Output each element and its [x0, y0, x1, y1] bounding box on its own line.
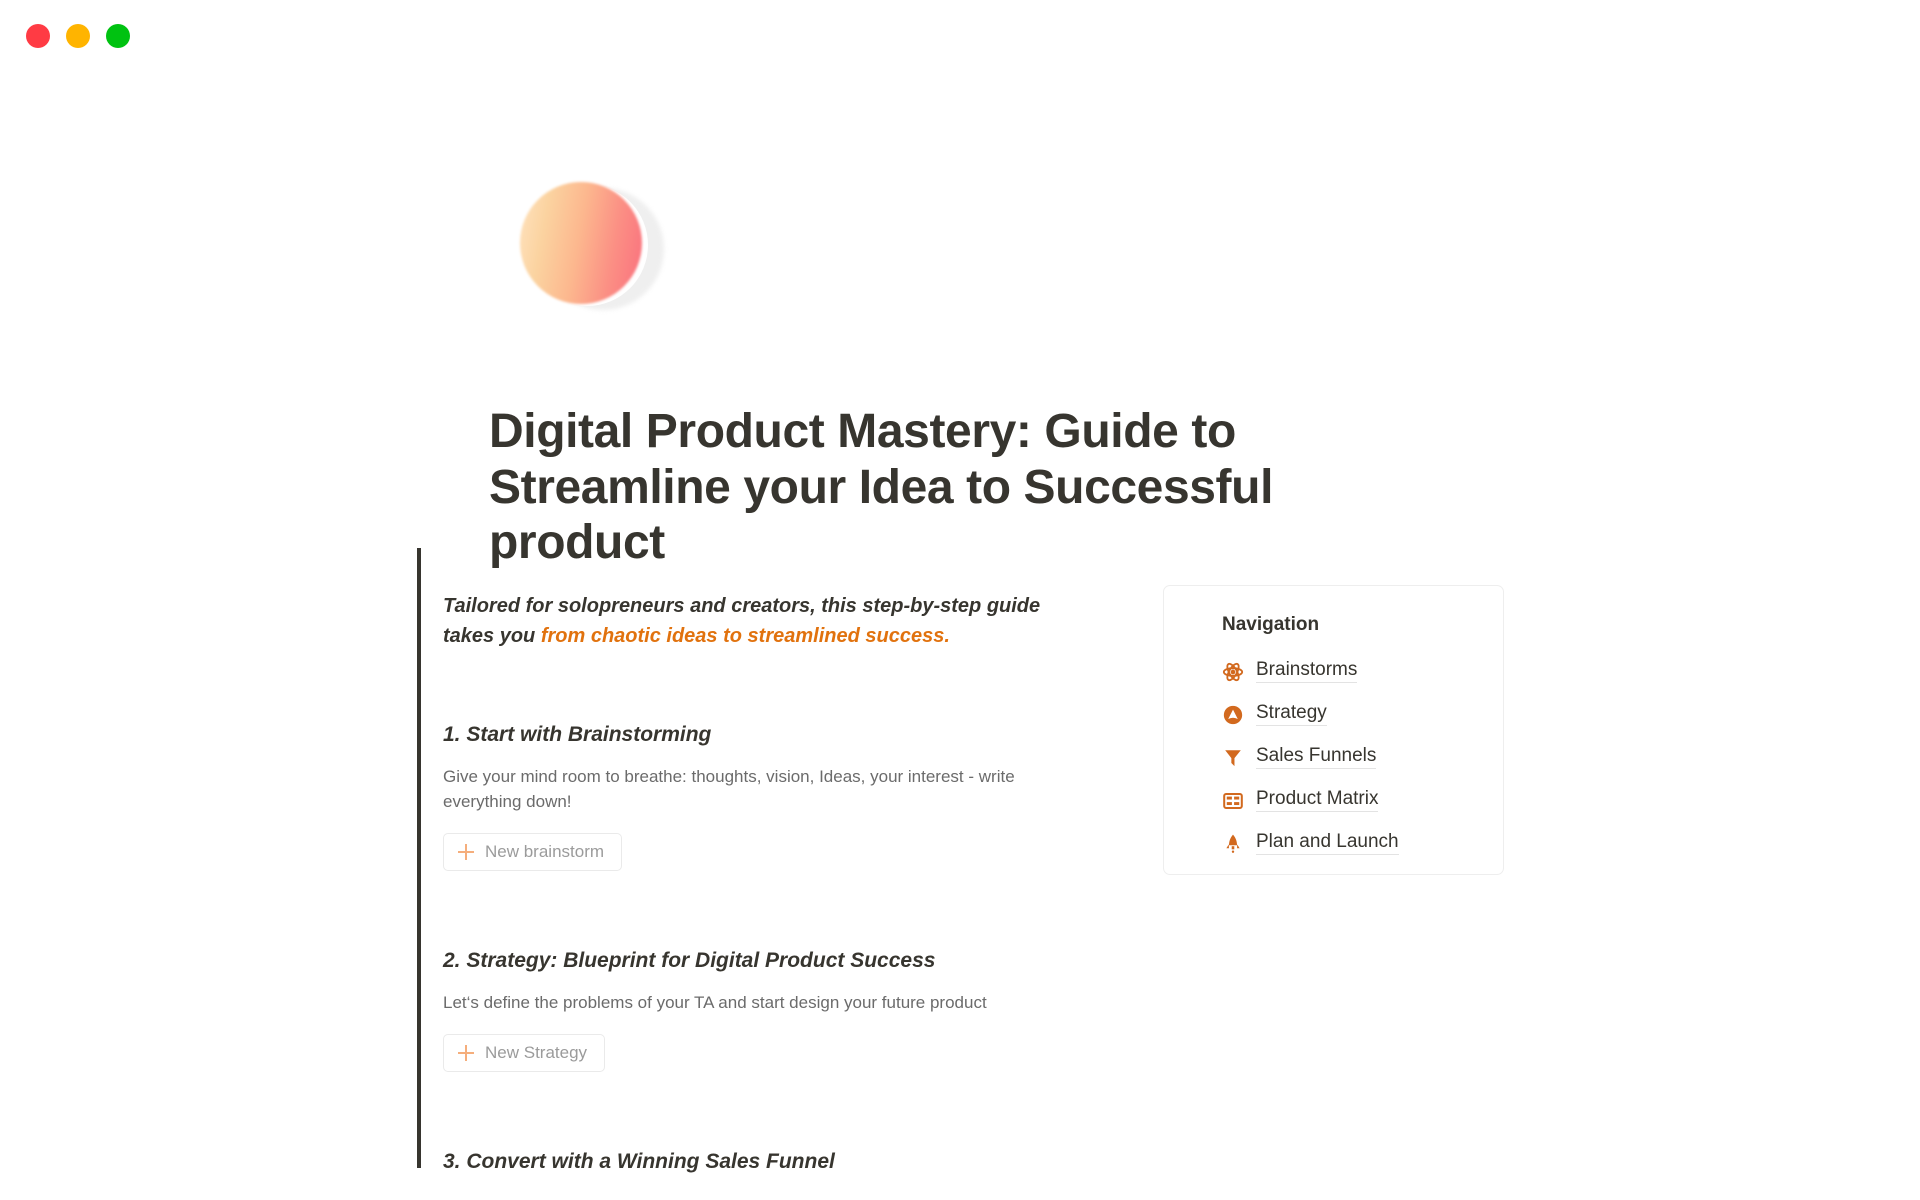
- nav-item-plan-and-launch[interactable]: Plan and Launch: [1222, 822, 1503, 865]
- intro-accent-text: from chaotic ideas to streamlined succes…: [541, 625, 950, 647]
- nav-label: Brainstorms: [1256, 660, 1357, 683]
- page-title: Digital Product Mastery: Guide to Stream…: [489, 404, 1419, 571]
- section-description: Let‘s define the problems of your TA and…: [443, 991, 1068, 1016]
- gradient-orb-icon: [520, 182, 652, 314]
- new-strategy-button[interactable]: New Strategy: [443, 1034, 605, 1072]
- new-strategy-label: New Strategy: [485, 1043, 587, 1063]
- app-page: Digital Product Mastery: Guide to Stream…: [0, 0, 1920, 1200]
- nav-item-product-matrix[interactable]: Product Matrix: [1222, 779, 1503, 822]
- callout-vertical-rule: [417, 548, 421, 1168]
- section-title: 1. Start with Brainstorming: [443, 721, 1123, 748]
- section-title: 3. Convert with a Winning Sales Funnel: [443, 1148, 1123, 1175]
- close-window-button[interactable]: [26, 24, 50, 48]
- navigation-panel: Navigation Brainstorms Strategy: [1163, 585, 1504, 875]
- nav-item-brainstorms[interactable]: Brainstorms: [1222, 650, 1503, 693]
- triangle-circle-icon: [1222, 704, 1244, 726]
- section-sales-funnel: 3. Convert with a Winning Sales Funnel: [443, 1148, 1123, 1175]
- rocket-icon: [1222, 833, 1244, 855]
- minimize-window-button[interactable]: [66, 24, 90, 48]
- nav-item-strategy[interactable]: Strategy: [1222, 693, 1503, 736]
- intro-paragraph: Tailored for solopreneurs and creators, …: [443, 592, 1083, 651]
- window-titlebar: [0, 0, 1920, 72]
- nav-label: Product Matrix: [1256, 789, 1378, 812]
- plus-icon: [458, 1045, 474, 1061]
- nav-label: Sales Funnels: [1256, 746, 1376, 769]
- section-brainstorming: 1. Start with Brainstorming Give your mi…: [443, 721, 1123, 871]
- orb-gradient: [520, 182, 642, 304]
- section-description: Give your mind room to breathe: thoughts…: [443, 765, 1068, 815]
- nav-label: Plan and Launch: [1256, 832, 1399, 855]
- maximize-window-button[interactable]: [106, 24, 130, 48]
- section-title: 2. Strategy: Blueprint for Digital Produ…: [443, 947, 1123, 974]
- table-grid-icon: [1222, 790, 1244, 812]
- content-column: Tailored for solopreneurs and creators, …: [443, 548, 1123, 1176]
- navigation-title: Navigation: [1222, 614, 1503, 636]
- new-brainstorm-label: New brainstorm: [485, 842, 604, 862]
- atom-icon: [1222, 661, 1244, 683]
- new-brainstorm-button[interactable]: New brainstorm: [443, 833, 622, 871]
- nav-item-sales-funnels[interactable]: Sales Funnels: [1222, 736, 1503, 779]
- plus-icon: [458, 844, 474, 860]
- funnel-icon: [1222, 747, 1244, 769]
- section-strategy: 2. Strategy: Blueprint for Digital Produ…: [443, 947, 1123, 1072]
- nav-label: Strategy: [1256, 703, 1327, 726]
